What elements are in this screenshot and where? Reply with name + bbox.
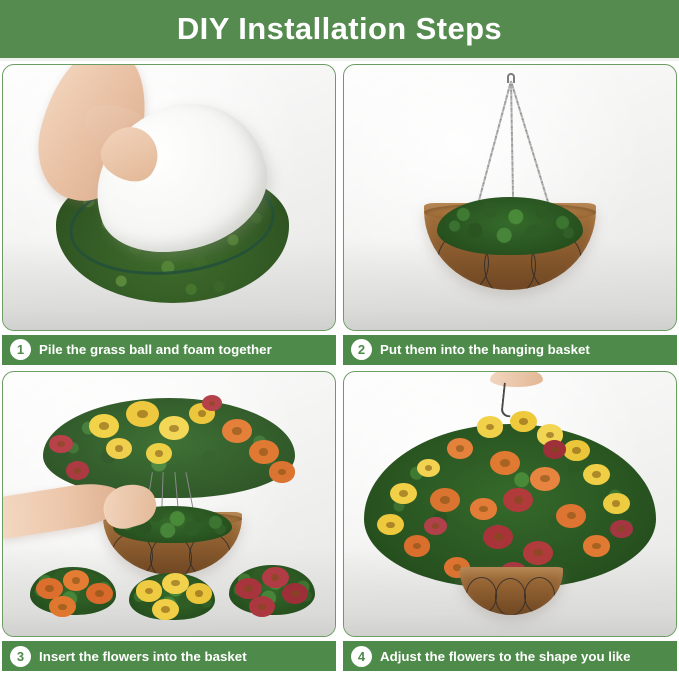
- step-3-caption-bar: 3 Insert the flowers into the basket: [2, 641, 336, 671]
- steps-grid: 1 Pile the grass ball and foam together: [0, 61, 679, 675]
- step-2-caption-bar: 2 Put them into the hanging basket: [343, 335, 677, 365]
- flower-red: [523, 541, 553, 565]
- flower-red: [483, 525, 513, 549]
- flower-orange: [530, 467, 560, 491]
- hanging-basket: [460, 567, 563, 615]
- step-caption-text: Pile the grass ball and foam together: [39, 342, 272, 357]
- flower-yellow: [603, 493, 630, 514]
- flower-yellow: [510, 411, 537, 432]
- step-1-photo: [2, 64, 336, 331]
- foliage-ball: [437, 197, 583, 255]
- hand-holding-hook: [490, 371, 543, 388]
- flower-red: [49, 435, 72, 454]
- flower-orange: [447, 438, 474, 459]
- flower-orange: [249, 440, 279, 464]
- flower-yellow: [162, 573, 189, 594]
- hanging-chain-right: [477, 81, 512, 204]
- flower-orange: [222, 419, 252, 443]
- flower-yellow: [106, 438, 133, 459]
- flower-orange: [490, 451, 520, 475]
- flower-yellow: [89, 414, 119, 438]
- step-4-caption-bar: 4 Adjust the flowers to the shape you li…: [343, 641, 677, 671]
- flower-red: [262, 567, 289, 588]
- basket-hook-icon: [500, 383, 514, 418]
- step-4-photo: [343, 371, 677, 638]
- flower-orange: [86, 583, 113, 604]
- step-caption-text: Adjust the flowers to the shape you like: [380, 649, 630, 664]
- step-1-caption-bar: 1 Pile the grass ball and foam together: [2, 335, 336, 365]
- flower-orange: [404, 535, 431, 556]
- step-caption-text: Put them into the hanging basket: [380, 342, 590, 357]
- flower-yellow: [390, 483, 417, 504]
- step-panel-2: 2 Put them into the hanging basket: [343, 64, 677, 365]
- flower-yellow: [159, 416, 189, 440]
- step-number-badge: 1: [10, 339, 31, 360]
- diy-installation-infographic: DIY Installation Steps 1 Pile the gr: [0, 0, 679, 675]
- flower-yellow: [152, 599, 179, 620]
- flower-orange: [63, 570, 90, 591]
- hanging-chain-middle: [510, 81, 514, 216]
- flower-orange: [470, 498, 497, 519]
- step-3-photo: [2, 371, 336, 638]
- flower-yellow: [563, 440, 590, 461]
- flower-yellow: [477, 416, 504, 437]
- hanging-chain-left: [510, 81, 549, 203]
- step-panel-1: 1 Pile the grass ball and foam together: [2, 64, 336, 365]
- step-panel-4: 4 Adjust the flowers to the shape you li…: [343, 371, 677, 672]
- step-number-badge: 3: [10, 646, 31, 667]
- header-banner: DIY Installation Steps: [0, 0, 679, 58]
- flower-orange: [269, 461, 296, 482]
- flower-yellow: [126, 401, 159, 427]
- step-2-photo: [343, 64, 677, 331]
- step-panel-3: 3 Insert the flowers into the basket: [2, 371, 336, 672]
- flower-yellow: [583, 464, 610, 485]
- page-title: DIY Installation Steps: [177, 11, 502, 47]
- flower-red: [543, 440, 566, 459]
- step-number-badge: 4: [351, 646, 372, 667]
- step-number-badge: 2: [351, 339, 372, 360]
- flower-orange: [430, 488, 460, 512]
- step-caption-text: Insert the flowers into the basket: [39, 649, 247, 664]
- flower-red: [610, 520, 633, 539]
- flower-yellow: [136, 580, 163, 601]
- flower-red: [503, 488, 533, 512]
- flower-orange: [583, 535, 610, 556]
- flower-orange: [556, 504, 586, 528]
- flower-red: [66, 461, 89, 480]
